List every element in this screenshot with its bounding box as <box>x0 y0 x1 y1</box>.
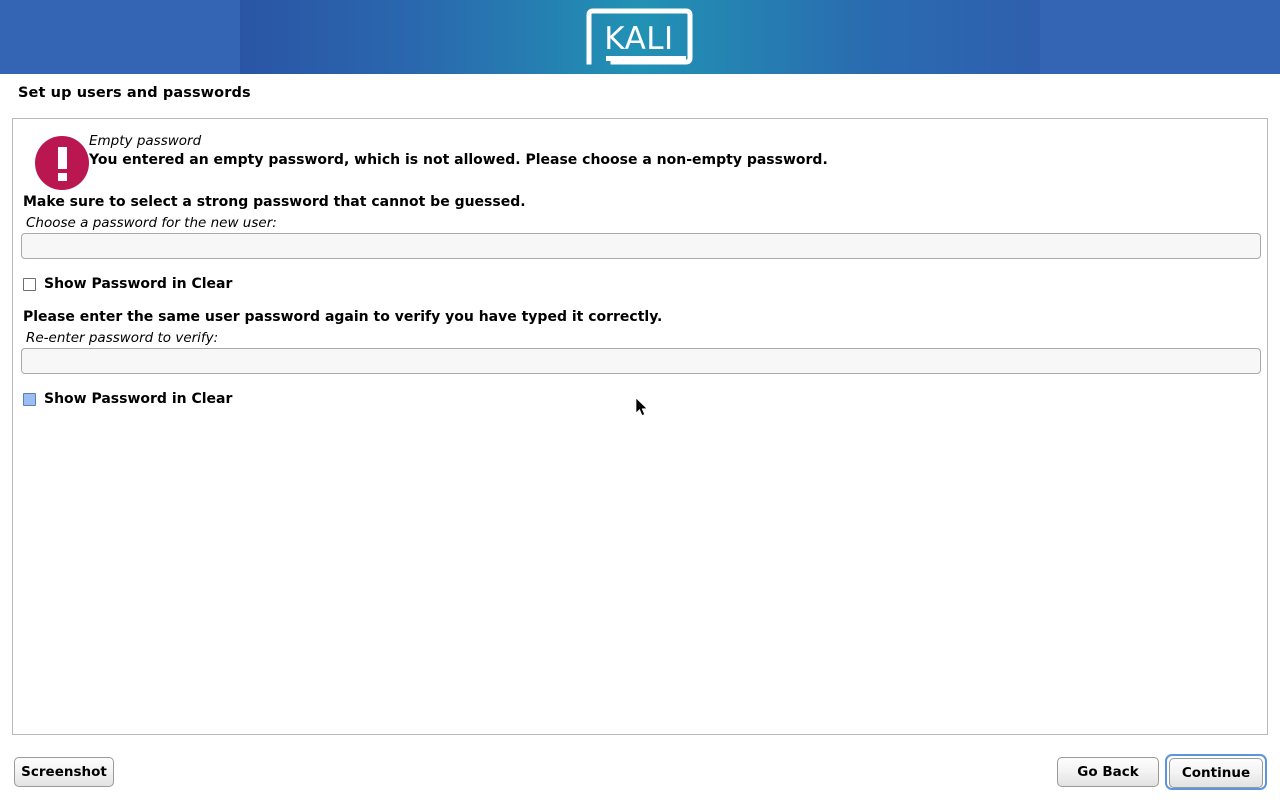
continue-button[interactable]: Continue <box>1169 758 1263 788</box>
show-password-label-2: Show Password in Clear <box>44 391 232 407</box>
verify-password-hint: Please enter the same user password agai… <box>23 309 662 325</box>
show-password-checkbox-2[interactable] <box>23 393 36 406</box>
error-exclamation-icon <box>35 136 89 190</box>
show-password-label-1: Show Password in Clear <box>44 276 232 292</box>
go-back-button[interactable]: Go Back <box>1057 757 1159 787</box>
verify-password-field-label: Re-enter password to verify: <box>26 330 218 346</box>
screenshot-button[interactable]: Screenshot <box>14 757 114 787</box>
error-alert-message: You entered an empty password, which is … <box>89 152 828 168</box>
svg-text:KALI: KALI <box>604 21 673 57</box>
installer-window: KALI Set up users and passwords Empty pa… <box>0 0 1280 800</box>
content-frame: Empty password You entered an empty pass… <box>12 118 1268 735</box>
password-field-label: Choose a password for the new user: <box>26 215 277 231</box>
show-password-checkbox-row-1[interactable]: Show Password in Clear <box>23 276 232 292</box>
show-password-checkbox-row-2[interactable]: Show Password in Clear <box>23 391 232 407</box>
verify-password-input[interactable] <box>21 348 1261 374</box>
password-strength-hint: Make sure to select a strong password th… <box>23 194 526 210</box>
show-password-checkbox-1[interactable] <box>23 278 36 291</box>
page-title: Set up users and passwords <box>18 85 251 101</box>
kali-banner: KALI <box>0 0 1280 74</box>
kali-logo-icon: KALI <box>583 8 696 66</box>
password-input[interactable] <box>21 233 1261 259</box>
error-alert-title: Empty password <box>89 133 201 149</box>
